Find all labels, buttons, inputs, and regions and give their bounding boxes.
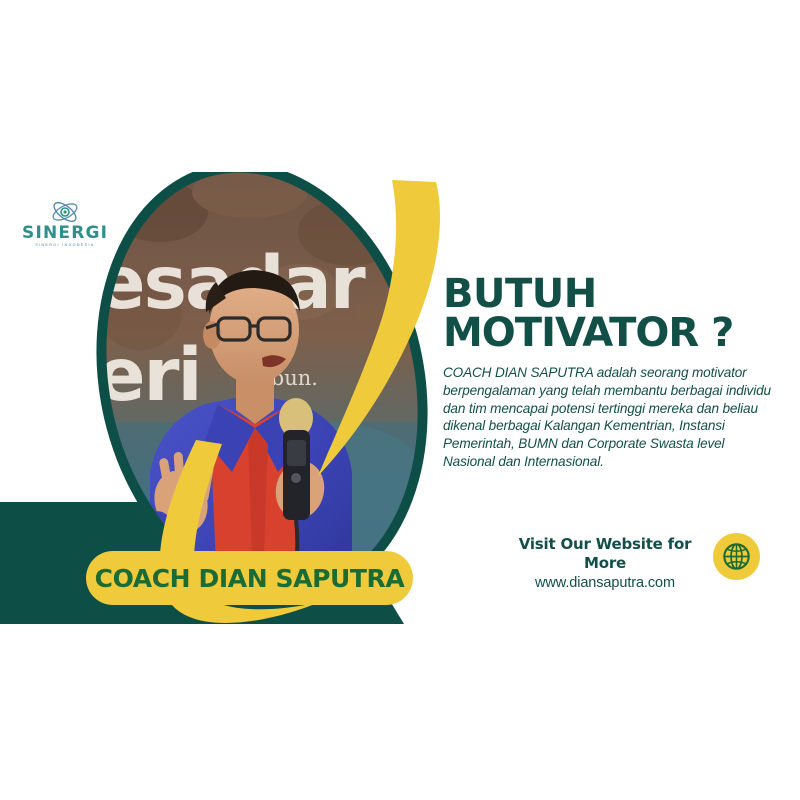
website-cta-label: Visit Our Website for More	[505, 535, 705, 573]
globe-icon	[722, 542, 751, 571]
description-paragraph: COACH DIAN SAPUTRA adalah seorang motiva…	[443, 364, 773, 470]
logo-wordmark: SINERGI	[22, 225, 108, 242]
website-text: Visit Our Website for More www.diansaput…	[505, 535, 705, 593]
name-banner: COACH DIAN SAPUTRA	[86, 551, 413, 605]
microphone	[279, 398, 313, 520]
globe-badge[interactable]	[713, 533, 760, 580]
poster-canvas: esadar eri Tribun.	[0, 0, 800, 800]
headline-block: BUTUH MOTIVATOR ? COACH DIAN SAPUTRA ada…	[443, 275, 773, 470]
headline-line-2: MOTIVATOR ?	[443, 314, 773, 353]
name-banner-label: COACH DIAN SAPUTRA	[95, 564, 405, 593]
logo-tagline: SINERGI INDONESIA	[22, 244, 108, 248]
atom-swirl-icon	[50, 200, 80, 224]
page-title: BUTUH MOTIVATOR ?	[443, 275, 773, 353]
svg-text:eri: eri	[96, 333, 201, 418]
sinergi-logo: SINERGI SINERGI INDONESIA	[22, 200, 108, 258]
website-url[interactable]: www.diansaputra.com	[505, 574, 705, 594]
website-cta-block[interactable]: Visit Our Website for More www.diansaput…	[505, 533, 767, 589]
